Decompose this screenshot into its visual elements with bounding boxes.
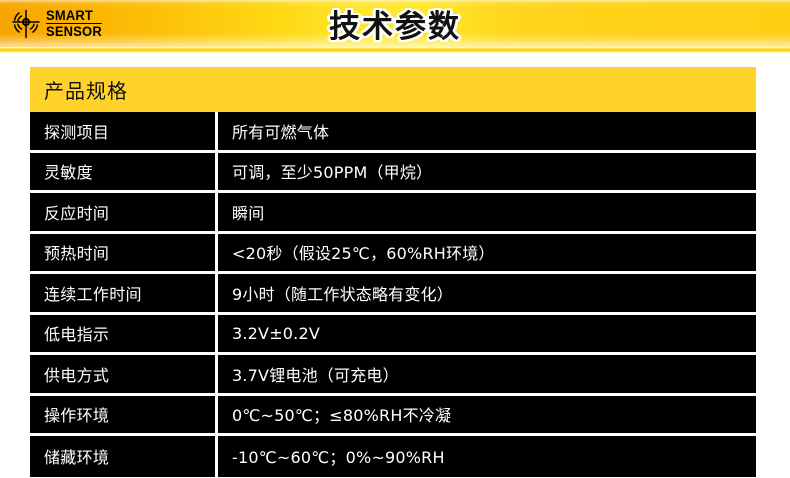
table-row: 低电指示 3.2V±0.2V: [30, 315, 756, 356]
brand-name-line2: SENSOR: [46, 25, 102, 39]
page-header-banner: 技术参数: [0, 0, 790, 47]
spec-value: 3.7V锂电池（可充电）: [218, 355, 756, 396]
sensor-signal-icon: [10, 9, 42, 39]
spec-label: 低电指示: [30, 315, 218, 356]
spec-value: 0℃~50℃；≤80%RH不冷凝: [218, 396, 756, 437]
spec-label: 储藏环境: [30, 436, 218, 477]
spec-table-body: 探测项目 所有可燃气体 灵敏度 可调，至少50PPM（甲烷） 反应时间 瞬间 预…: [30, 112, 756, 477]
spec-value: <20秒（假设25℃，60%RH环境）: [218, 234, 756, 275]
spec-section-title: 产品规格: [44, 75, 128, 104]
product-spec-page: 技术参数: [0, 0, 790, 478]
table-row: 连续工作时间 9小时（随工作状态略有变化）: [30, 274, 756, 315]
table-row: 供电方式 3.7V锂电池（可充电）: [30, 355, 756, 396]
table-row: 储藏环境 -10℃~60℃；0%~90%RH: [30, 436, 756, 477]
spec-label: 连续工作时间: [30, 274, 218, 315]
product-spec-block: 产品规格 探测项目 所有可燃气体 灵敏度 可调，至少50PPM（甲烷） 反应时间…: [30, 67, 756, 477]
table-row: 灵敏度 可调，至少50PPM（甲烷）: [30, 153, 756, 194]
brand-name-line1: SMART: [46, 9, 102, 24]
table-row: 预热时间 <20秒（假设25℃，60%RH环境）: [30, 234, 756, 275]
spec-value: 可调，至少50PPM（甲烷）: [218, 153, 756, 194]
spec-label: 灵敏度: [30, 153, 218, 194]
brand-name: SMART SENSOR: [46, 9, 104, 39]
table-row: 反应时间 瞬间: [30, 193, 756, 234]
spec-value: 9小时（随工作状态略有变化）: [218, 274, 756, 315]
spec-label: 操作环境: [30, 396, 218, 437]
spec-value: 所有可燃气体: [218, 112, 756, 153]
brand-logo: SMART SENSOR: [10, 7, 104, 40]
spec-label: 预热时间: [30, 234, 218, 275]
banner-underline-strip: [0, 47, 790, 53]
spec-section-header: 产品规格: [30, 67, 756, 112]
page-title: 技术参数: [0, 0, 790, 47]
spec-value: 瞬间: [218, 193, 756, 234]
spec-label: 供电方式: [30, 355, 218, 396]
spec-value: -10℃~60℃；0%~90%RH: [218, 436, 756, 477]
table-row: 探测项目 所有可燃气体: [30, 112, 756, 153]
spec-label: 反应时间: [30, 193, 218, 234]
spec-value: 3.2V±0.2V: [218, 315, 756, 356]
table-row: 操作环境 0℃~50℃；≤80%RH不冷凝: [30, 396, 756, 437]
spec-label: 探测项目: [30, 112, 218, 153]
spec-table: 探测项目 所有可燃气体 灵敏度 可调，至少50PPM（甲烷） 反应时间 瞬间 预…: [30, 112, 756, 477]
